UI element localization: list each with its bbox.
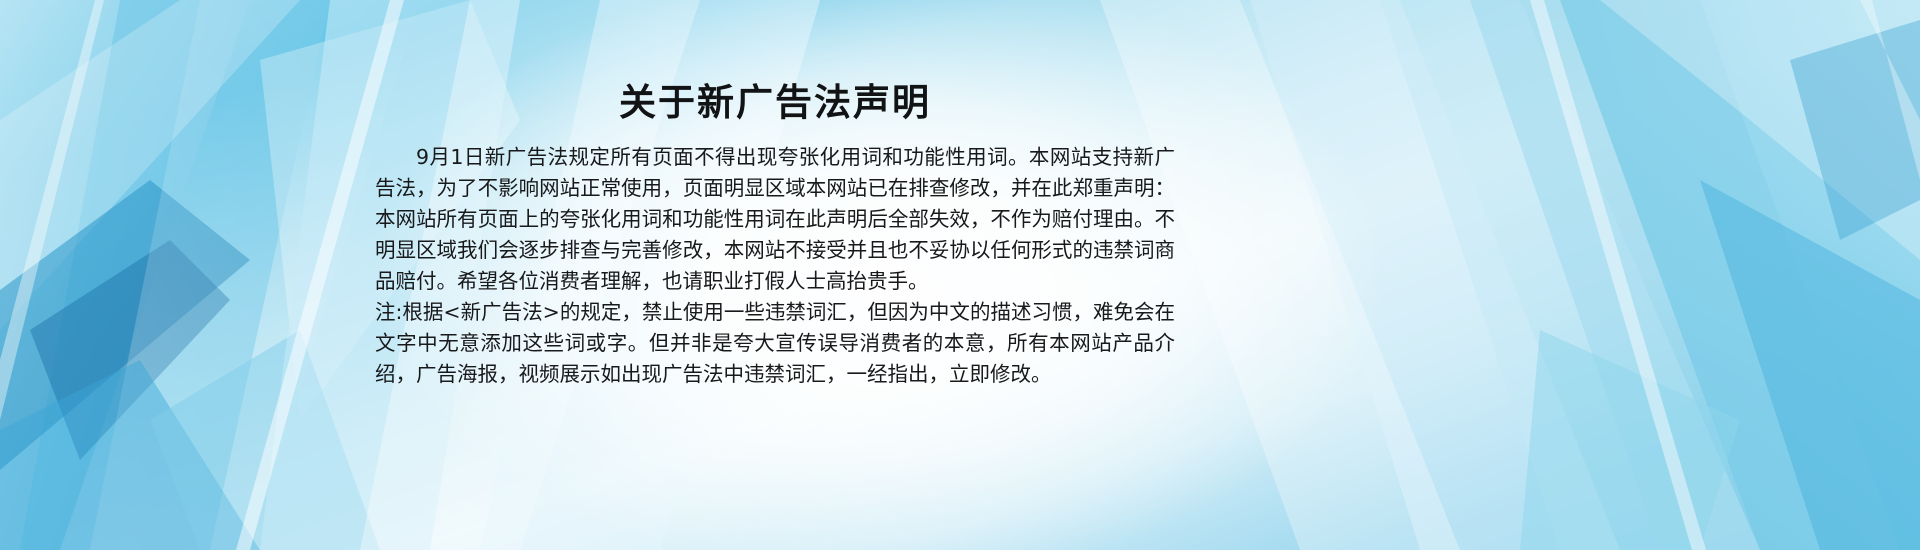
content-layer: 关于新广告法声明 9月1日新广告法规定所有页面不得出现夸张化用词和功能性用词。本… bbox=[0, 0, 1920, 550]
legal-statement-block: 关于新广告法声明 9月1日新广告法规定所有页面不得出现夸张化用词和功能性用词。本… bbox=[375, 78, 1175, 390]
banner-stage: 关于新广告法声明 9月1日新广告法规定所有页面不得出现夸张化用词和功能性用词。本… bbox=[0, 0, 1920, 550]
page-title: 关于新广告法声明 bbox=[375, 78, 1175, 128]
note-paragraph: 注:根据<新广告法>的规定，禁止使用一些违禁词汇，但因为中文的描述习惯，难免会在… bbox=[375, 297, 1175, 390]
statement-paragraph: 9月1日新广告法规定所有页面不得出现夸张化用词和功能性用词。本网站支持新广告法，… bbox=[375, 142, 1175, 297]
